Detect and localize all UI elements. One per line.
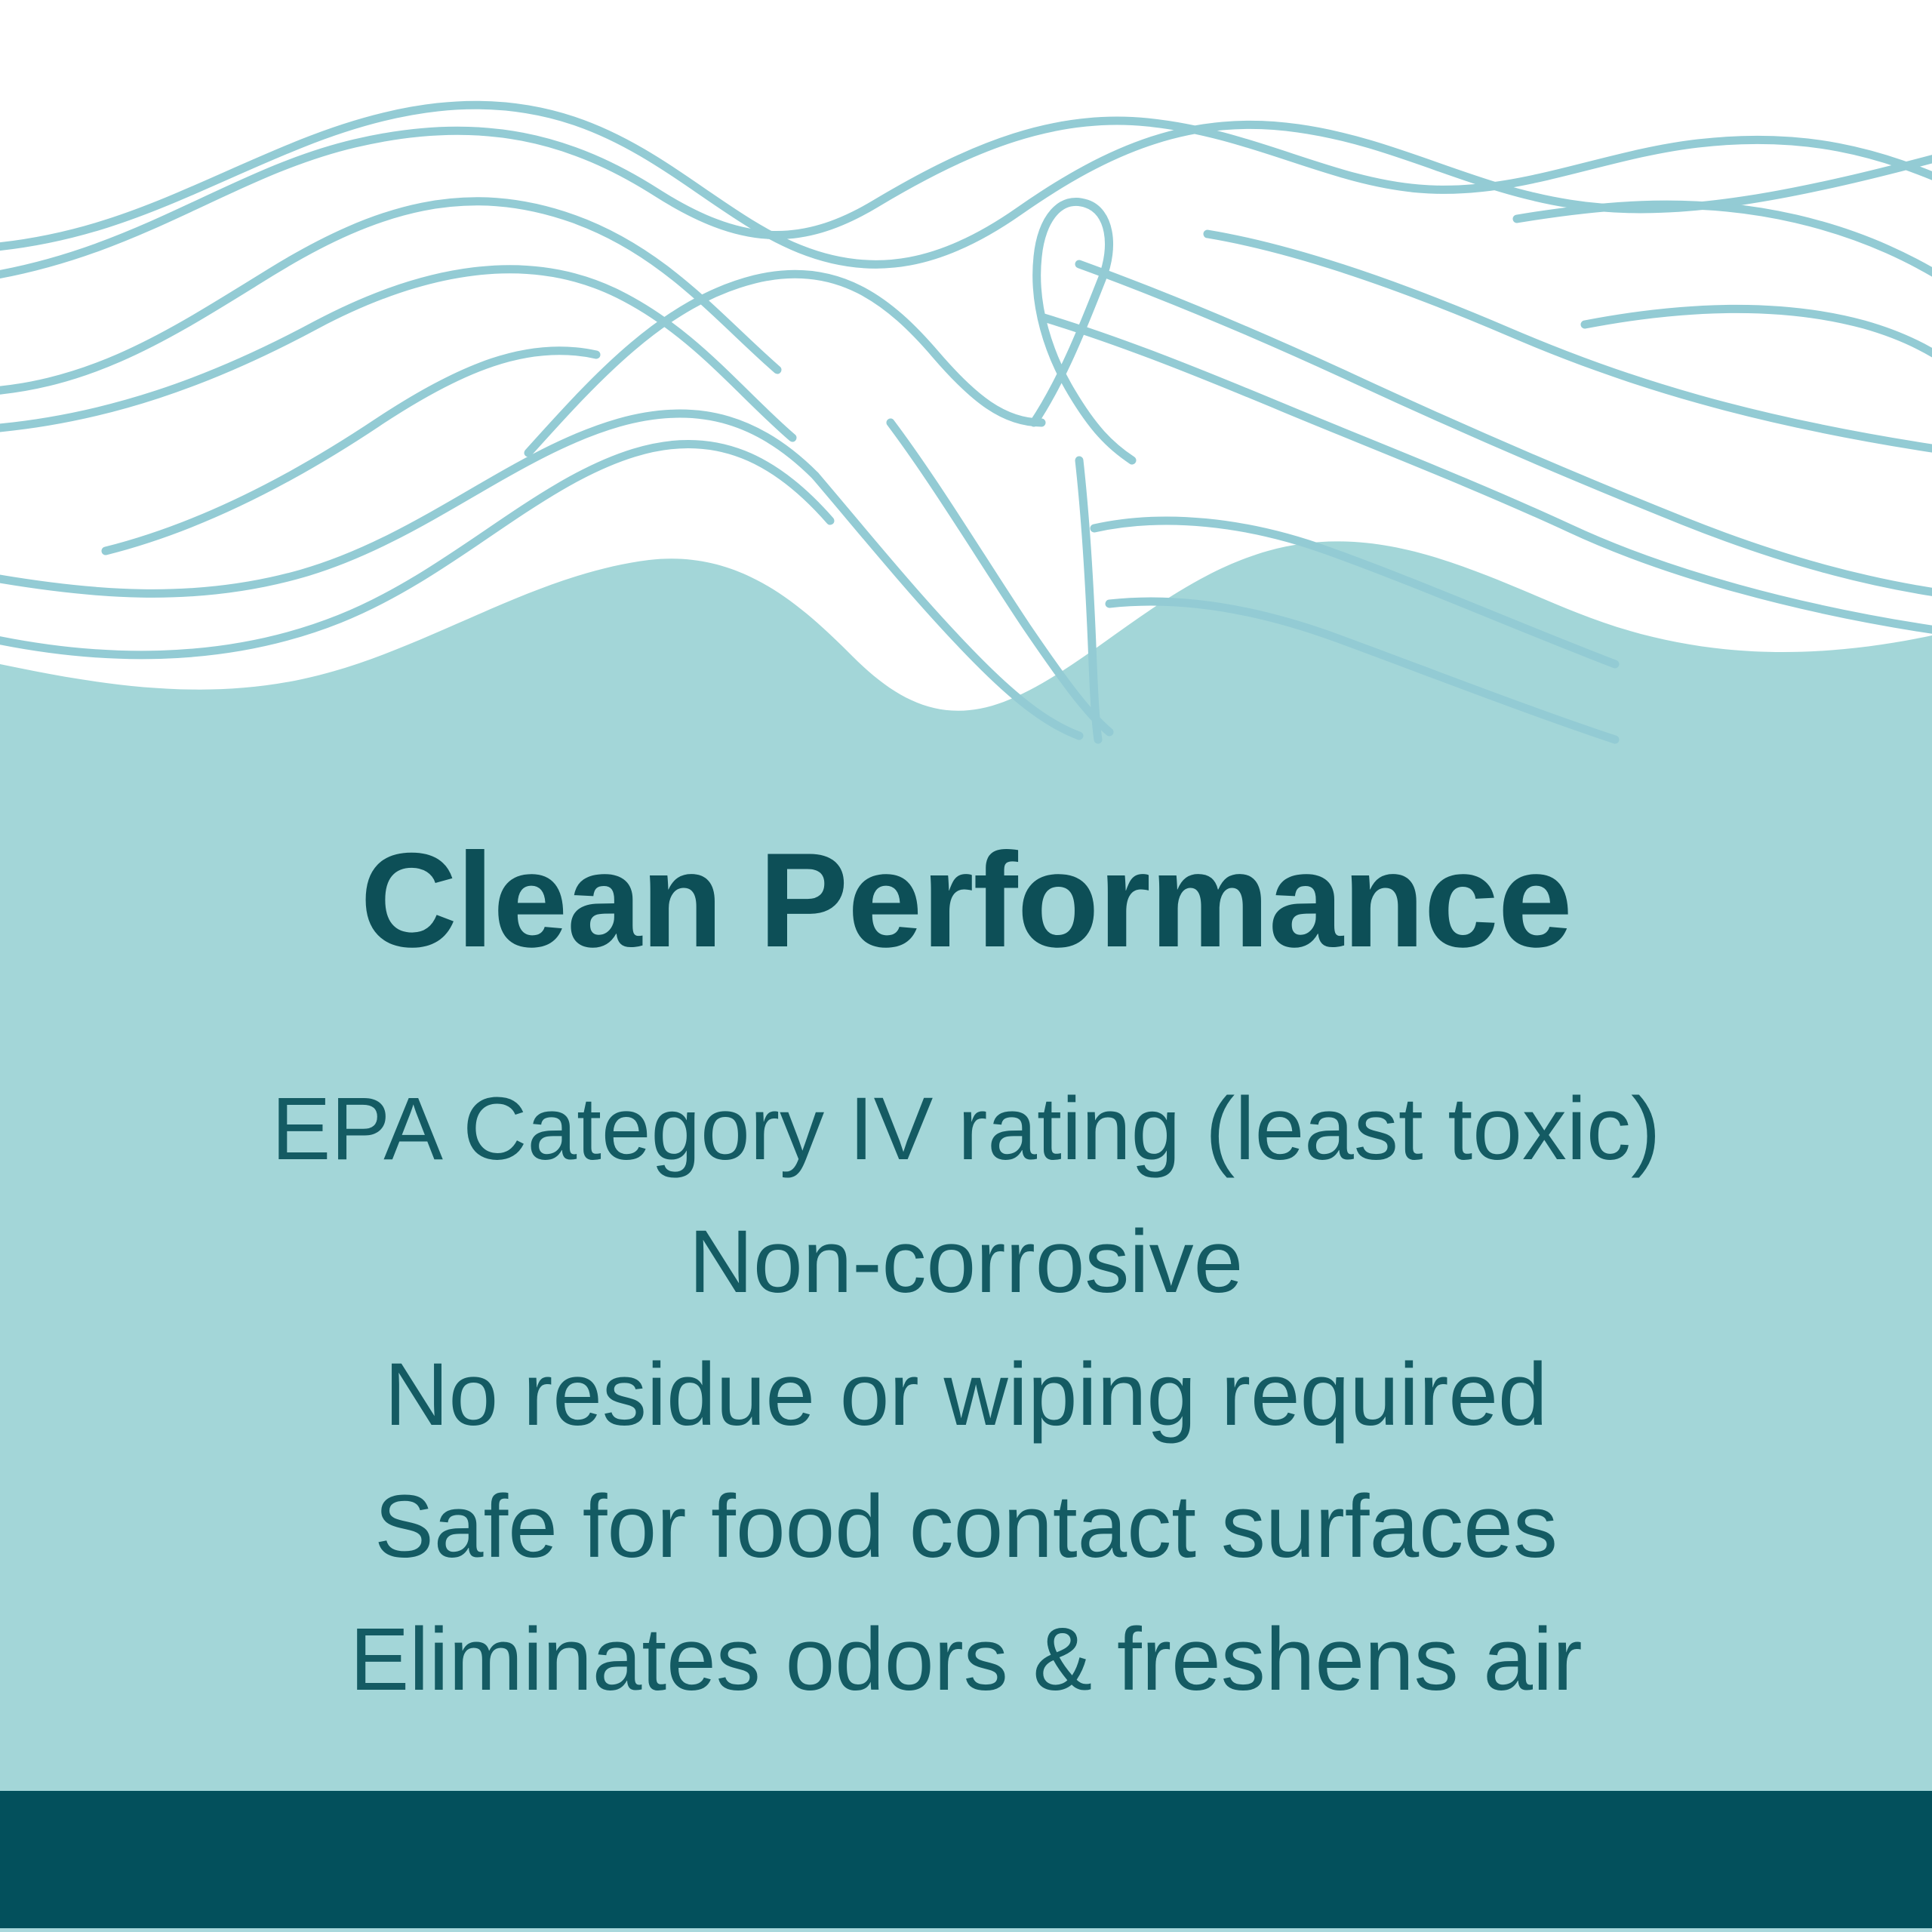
list-item: Non-corrosive bbox=[0, 1196, 1932, 1329]
footer-bar bbox=[0, 1791, 1932, 1928]
wave-left-lobe-top bbox=[0, 202, 777, 392]
list-item: Eliminates odors & freshens air bbox=[0, 1594, 1932, 1727]
wave-right-arc-2 bbox=[1585, 309, 1932, 374]
page-title: Clean Performance bbox=[0, 830, 1932, 971]
list-item: EPA Category IV rating (least toxic) bbox=[0, 1063, 1932, 1196]
list-item: Safe for food contact surfaces bbox=[0, 1461, 1932, 1594]
footer-edge-line bbox=[0, 1928, 1932, 1932]
clean-performance-card: Clean Performance EPA Category IV rating… bbox=[0, 0, 1932, 1932]
list-item: No residue or wiping required bbox=[0, 1329, 1932, 1462]
wave-crest-2 bbox=[0, 105, 1932, 264]
benefit-list: EPA Category IV rating (least toxic) Non… bbox=[0, 1063, 1932, 1727]
wave-scallop-left bbox=[106, 351, 596, 551]
text-block: Clean Performance EPA Category IV rating… bbox=[0, 830, 1932, 1727]
wave-right-arc-1 bbox=[1517, 205, 1932, 291]
